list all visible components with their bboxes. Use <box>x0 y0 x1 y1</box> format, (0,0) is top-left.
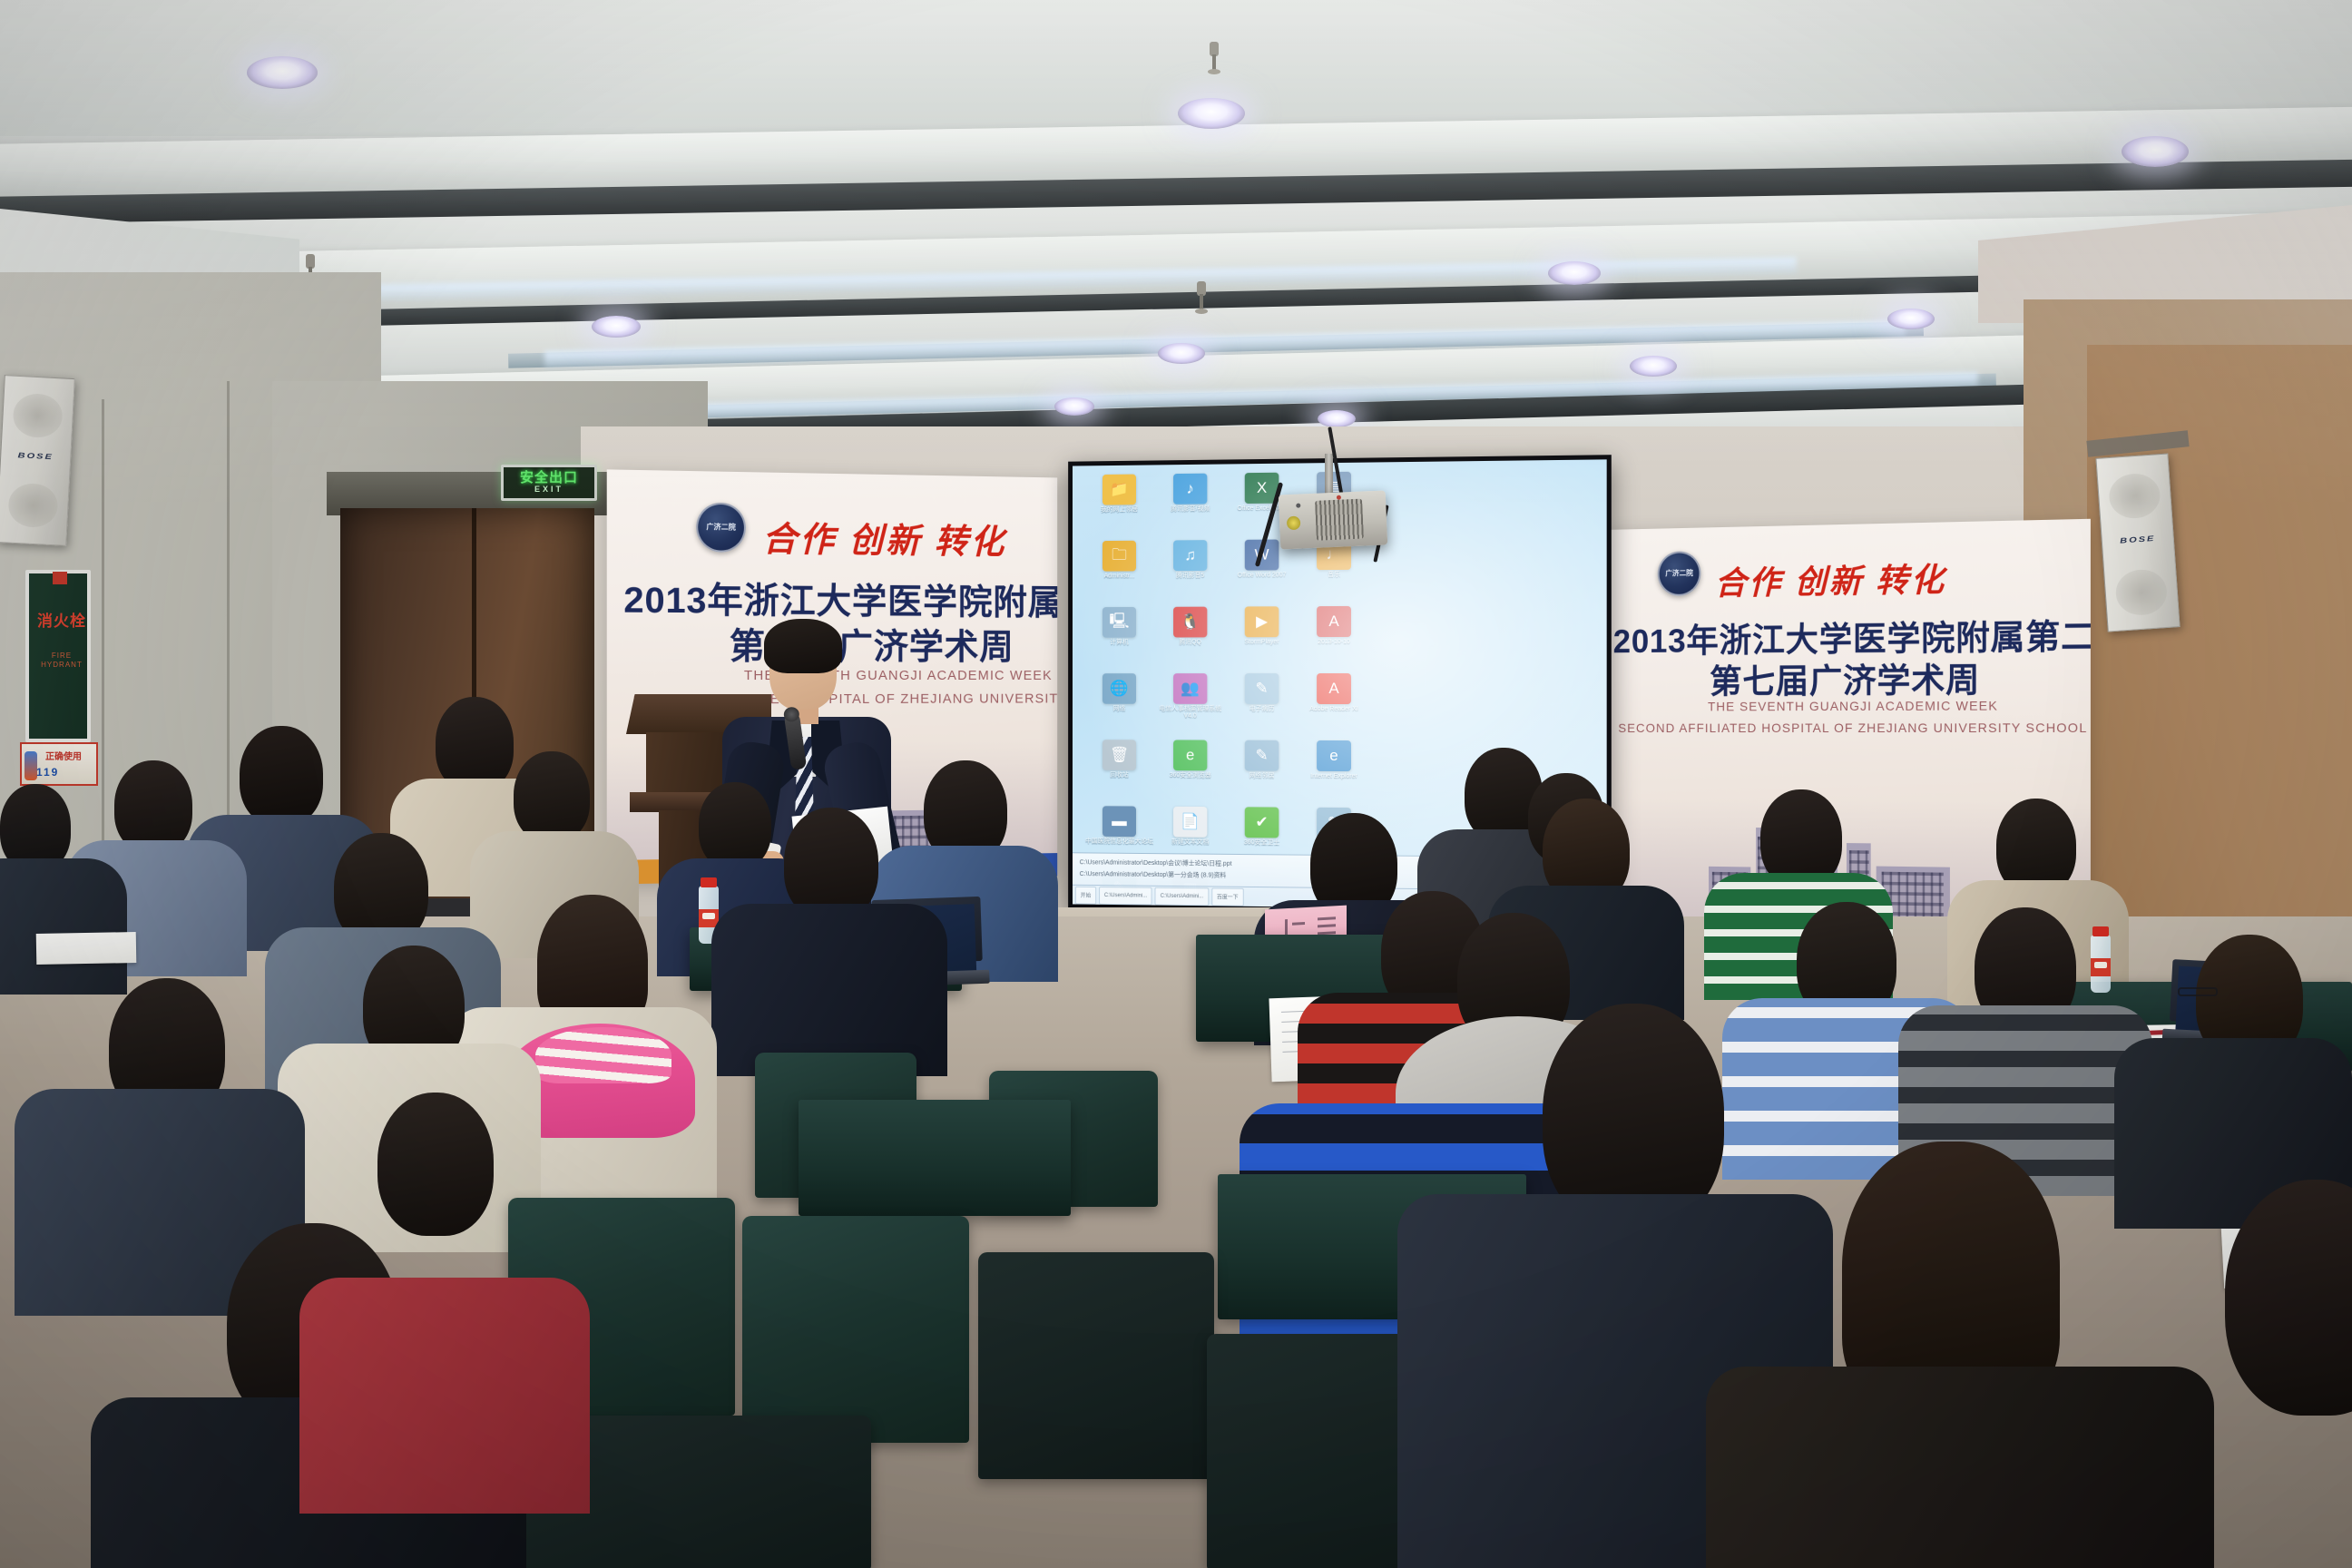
desktop-icon-glyph: 🗀 <box>1102 541 1136 572</box>
desktop-icon-label: 腾讯影音5 <box>1155 573 1225 580</box>
ceiling-downlight <box>247 56 318 89</box>
conference-hall-photo: 安全出口 EXIT 消火栓 FIRE HYDRANT 正确使用 119 BOSE… <box>0 0 2352 1568</box>
hospital-logo-text-left: 广济二院 <box>706 524 735 532</box>
taskbar-window-1[interactable]: C:\Users\Admini... <box>1099 887 1152 905</box>
banner-english-line2-right: SECOND AFFILIATED HOSPITAL OF ZHEJIANG U… <box>1618 720 2091 735</box>
desktop-icon[interactable]: e360安全浏览器 <box>1155 740 1225 779</box>
desktop-icon-label: 电信人事档案管理系统V4.0 <box>1155 706 1225 720</box>
projector-vent <box>1315 499 1364 541</box>
attendee-shoulders <box>0 858 127 995</box>
hospital-logo-right: 广济二院 <box>1658 551 1701 596</box>
seat-back <box>978 1252 1214 1479</box>
taskbar-window-2[interactable]: C:\Users\Admini... <box>1155 887 1209 906</box>
desktop-icon-label: 我的网上邻居 <box>1085 506 1154 514</box>
right-wall-panel <box>2087 345 2352 926</box>
desktop-icon-glyph: e <box>1317 740 1351 771</box>
desktop-icon[interactable]: 🐧腾讯QQ <box>1155 607 1225 647</box>
poster-title: 正确使用 <box>45 749 82 762</box>
attendee-head <box>436 697 514 791</box>
desktop-icon-label: 计算机 <box>1085 640 1154 647</box>
ceiling-downlight <box>1158 343 1205 364</box>
desktop-icon-label: 2013-10-10 <box>1298 639 1369 646</box>
desktop-icon-label: 360安全浏览器 <box>1155 772 1225 779</box>
fire-safety-poster: 正确使用 119 <box>20 742 98 786</box>
attendee-head <box>377 1093 494 1236</box>
bose-logo-left: BOSE <box>1 450 70 462</box>
projector-lens-icon <box>1287 516 1301 531</box>
desktop-icon[interactable]: 👥电信人事档案管理系统V4.0 <box>1155 673 1225 720</box>
taskbar-window-3[interactable]: 百度一下 <box>1211 887 1244 906</box>
banner-title-line2-right: 第七届广济学术周 <box>1710 652 1980 703</box>
hood-stripes <box>535 1027 671 1083</box>
desktop-icon-label: 网络邻居 <box>1227 772 1297 779</box>
desktop-icon-glyph: A <box>1317 606 1351 637</box>
exit-sign: 安全出口 EXIT <box>501 465 597 501</box>
taskbar-path-row-1: C:\Users\Administrator\Desktop\会议\博士论坛\日… <box>1080 857 1232 868</box>
desktop-icon-label: Internet Explorer <box>1298 773 1369 780</box>
desktop-icon-label: 360安全卫士 <box>1227 839 1297 848</box>
desktop-icon[interactable]: AAdobe Reader XI <box>1298 673 1369 713</box>
attendee-shoulders <box>1706 1367 2214 1568</box>
attendee-head <box>514 751 590 842</box>
desktop-icon[interactable]: ✎网络邻居 <box>1227 740 1297 780</box>
ceiling-downlight <box>1178 98 1245 129</box>
desktop-icon[interactable]: 🗑回收站 <box>1085 740 1154 779</box>
desktop-icon-glyph: 👥 <box>1173 673 1207 704</box>
desktop-icon[interactable]: ♪腾讯影音/视频 <box>1155 473 1225 513</box>
desktop-icon-glyph: 🌐 <box>1102 673 1136 704</box>
banner-slogan-left: 合作 创新 转化 <box>762 511 1006 563</box>
fire-cabinet-label: 消火栓 <box>36 613 87 630</box>
desktop-icon-glyph: ♫ <box>1173 540 1207 571</box>
attendee-shoulders <box>299 1278 590 1514</box>
banner-title-line1-left: 2013年浙江大学医学院附属第二医院 <box>623 572 1057 626</box>
projector-led <box>1296 504 1300 508</box>
ceiling-downlight <box>1548 261 1601 285</box>
desktop-icon[interactable]: 🖳计算机 <box>1085 607 1154 647</box>
desktop-icon-glyph: ▶ <box>1245 606 1279 637</box>
fire-sprinkler-icon <box>1194 281 1209 318</box>
audience-desk <box>799 1100 1071 1216</box>
attendee-shoulders <box>711 904 947 1076</box>
desktop-icon-glyph: ♪ <box>1173 474 1207 505</box>
banner-english-line1-right: THE SEVENTH GUANGJI ACADEMIC WEEK <box>1708 698 1998 713</box>
desktop-icon[interactable]: ▶StormPlayer <box>1227 606 1297 646</box>
poster-emergency-number: 119 <box>36 766 59 779</box>
desktop-icon[interactable]: ✔360安全卫士 <box>1227 807 1297 847</box>
desktop-icon[interactable]: 📄新建文本文档 <box>1155 807 1225 847</box>
desktop-icon[interactable]: ✎电子病历 <box>1227 673 1297 713</box>
desktop-icon-glyph: 🐧 <box>1173 607 1207 638</box>
start-button[interactable]: 开始 <box>1075 886 1096 904</box>
taskbar-path-row-2: C:\Users\Administrator\Desktop\第一分会场 (8.… <box>1080 869 1227 880</box>
desktop-icon-grid: 📁我的网上邻居♪腾讯影音/视频XOffice Excel 2007▤纪念院庆14… <box>1085 471 1408 475</box>
cabinet-indicator <box>53 572 67 584</box>
desktop-icon[interactable]: ▬中国医院信息化最大论坛 <box>1085 806 1154 846</box>
desktop-icon-label: StormPlayer <box>1227 639 1297 646</box>
desktop-icon[interactable]: ♫腾讯影音5 <box>1155 540 1225 580</box>
desktop-icon-label: 电子病历 <box>1227 706 1297 713</box>
exit-sign-english: EXIT <box>534 485 563 495</box>
ceiling-downlight <box>592 316 641 338</box>
desktop-icon-glyph: 🖳 <box>1102 607 1136 638</box>
bose-speaker-right: BOSE <box>2095 453 2180 632</box>
eyeglasses-icon <box>2178 987 2218 996</box>
desktop-icon-glyph: ✎ <box>1245 740 1279 771</box>
water-bottle <box>2091 935 2111 993</box>
desktop-icon-label: Office Word 2007 <box>1227 572 1297 579</box>
desktop-icon[interactable]: 🌐网络 <box>1085 673 1154 713</box>
desktop-icon-label: 新建文本文档 <box>1155 838 1225 847</box>
desktop-icon[interactable]: 📁我的网上邻居 <box>1085 474 1154 514</box>
fire-hydrant-cabinet[interactable]: 消火栓 FIRE HYDRANT <box>25 570 91 742</box>
ceiling-downlight <box>1054 397 1094 416</box>
desktop-icon-label: Administr... <box>1085 573 1154 580</box>
ceiling-projector <box>1279 490 1388 549</box>
desktop-icon-glyph: 🗑 <box>1102 740 1136 770</box>
fire-cabinet-sublabel: FIRE HYDRANT <box>34 652 89 670</box>
attendee-head <box>240 726 323 826</box>
fire-sprinkler-icon <box>1207 42 1221 78</box>
ceiling-downlight <box>2122 136 2189 167</box>
ceiling-downlight <box>1318 410 1356 427</box>
ceiling-downlight <box>1887 309 1935 329</box>
attendee-head <box>114 760 192 853</box>
poster-figure-icon <box>24 751 37 780</box>
exit-sign-chinese: 安全出口 <box>520 471 578 485</box>
desktop-icon-label: 网络 <box>1085 706 1154 713</box>
desktop-icon-label: 中国医院信息化最大论坛 <box>1085 838 1154 847</box>
desktop-icon-glyph: ✔ <box>1245 807 1279 838</box>
desktop-icon[interactable]: eInternet Explorer <box>1298 740 1369 780</box>
bose-logo-right: BOSE <box>2102 533 2173 545</box>
desktop-icon-glyph: ▬ <box>1102 806 1136 837</box>
desktop-icon-label: 音乐 <box>1298 572 1369 579</box>
printed-program <box>36 932 137 965</box>
desktop-icon-glyph: ✎ <box>1245 673 1279 704</box>
desktop-icon-label: 回收站 <box>1085 772 1154 779</box>
desktop-icon-label: 腾讯QQ <box>1155 639 1225 646</box>
desktop-icon-glyph: 📁 <box>1102 475 1136 505</box>
attendee-head <box>699 782 771 869</box>
seat-back <box>742 1216 969 1443</box>
hospital-logo-left: 广济二院 <box>696 503 746 553</box>
desktop-icon-glyph: 📄 <box>1173 807 1207 838</box>
desktop-icon-label: 腾讯影音/视频 <box>1155 505 1225 514</box>
hospital-logo-text-right: 广济二院 <box>1665 570 1692 578</box>
desktop-icon-glyph: A <box>1317 673 1351 704</box>
desktop-icon[interactable]: 🗀Administr... <box>1085 541 1154 581</box>
projector-mount-arm <box>1325 454 1333 497</box>
desktop-icon-glyph: e <box>1173 740 1207 770</box>
ceiling-downlight <box>1630 356 1677 377</box>
bose-speaker-left: BOSE <box>0 375 75 546</box>
banner-slogan-right: 合作 创新 转化 <box>1715 554 1946 604</box>
desktop-icon[interactable]: A2013-10-10 <box>1298 606 1369 646</box>
desktop-icon-label: Adobe Reader XI <box>1298 706 1369 713</box>
